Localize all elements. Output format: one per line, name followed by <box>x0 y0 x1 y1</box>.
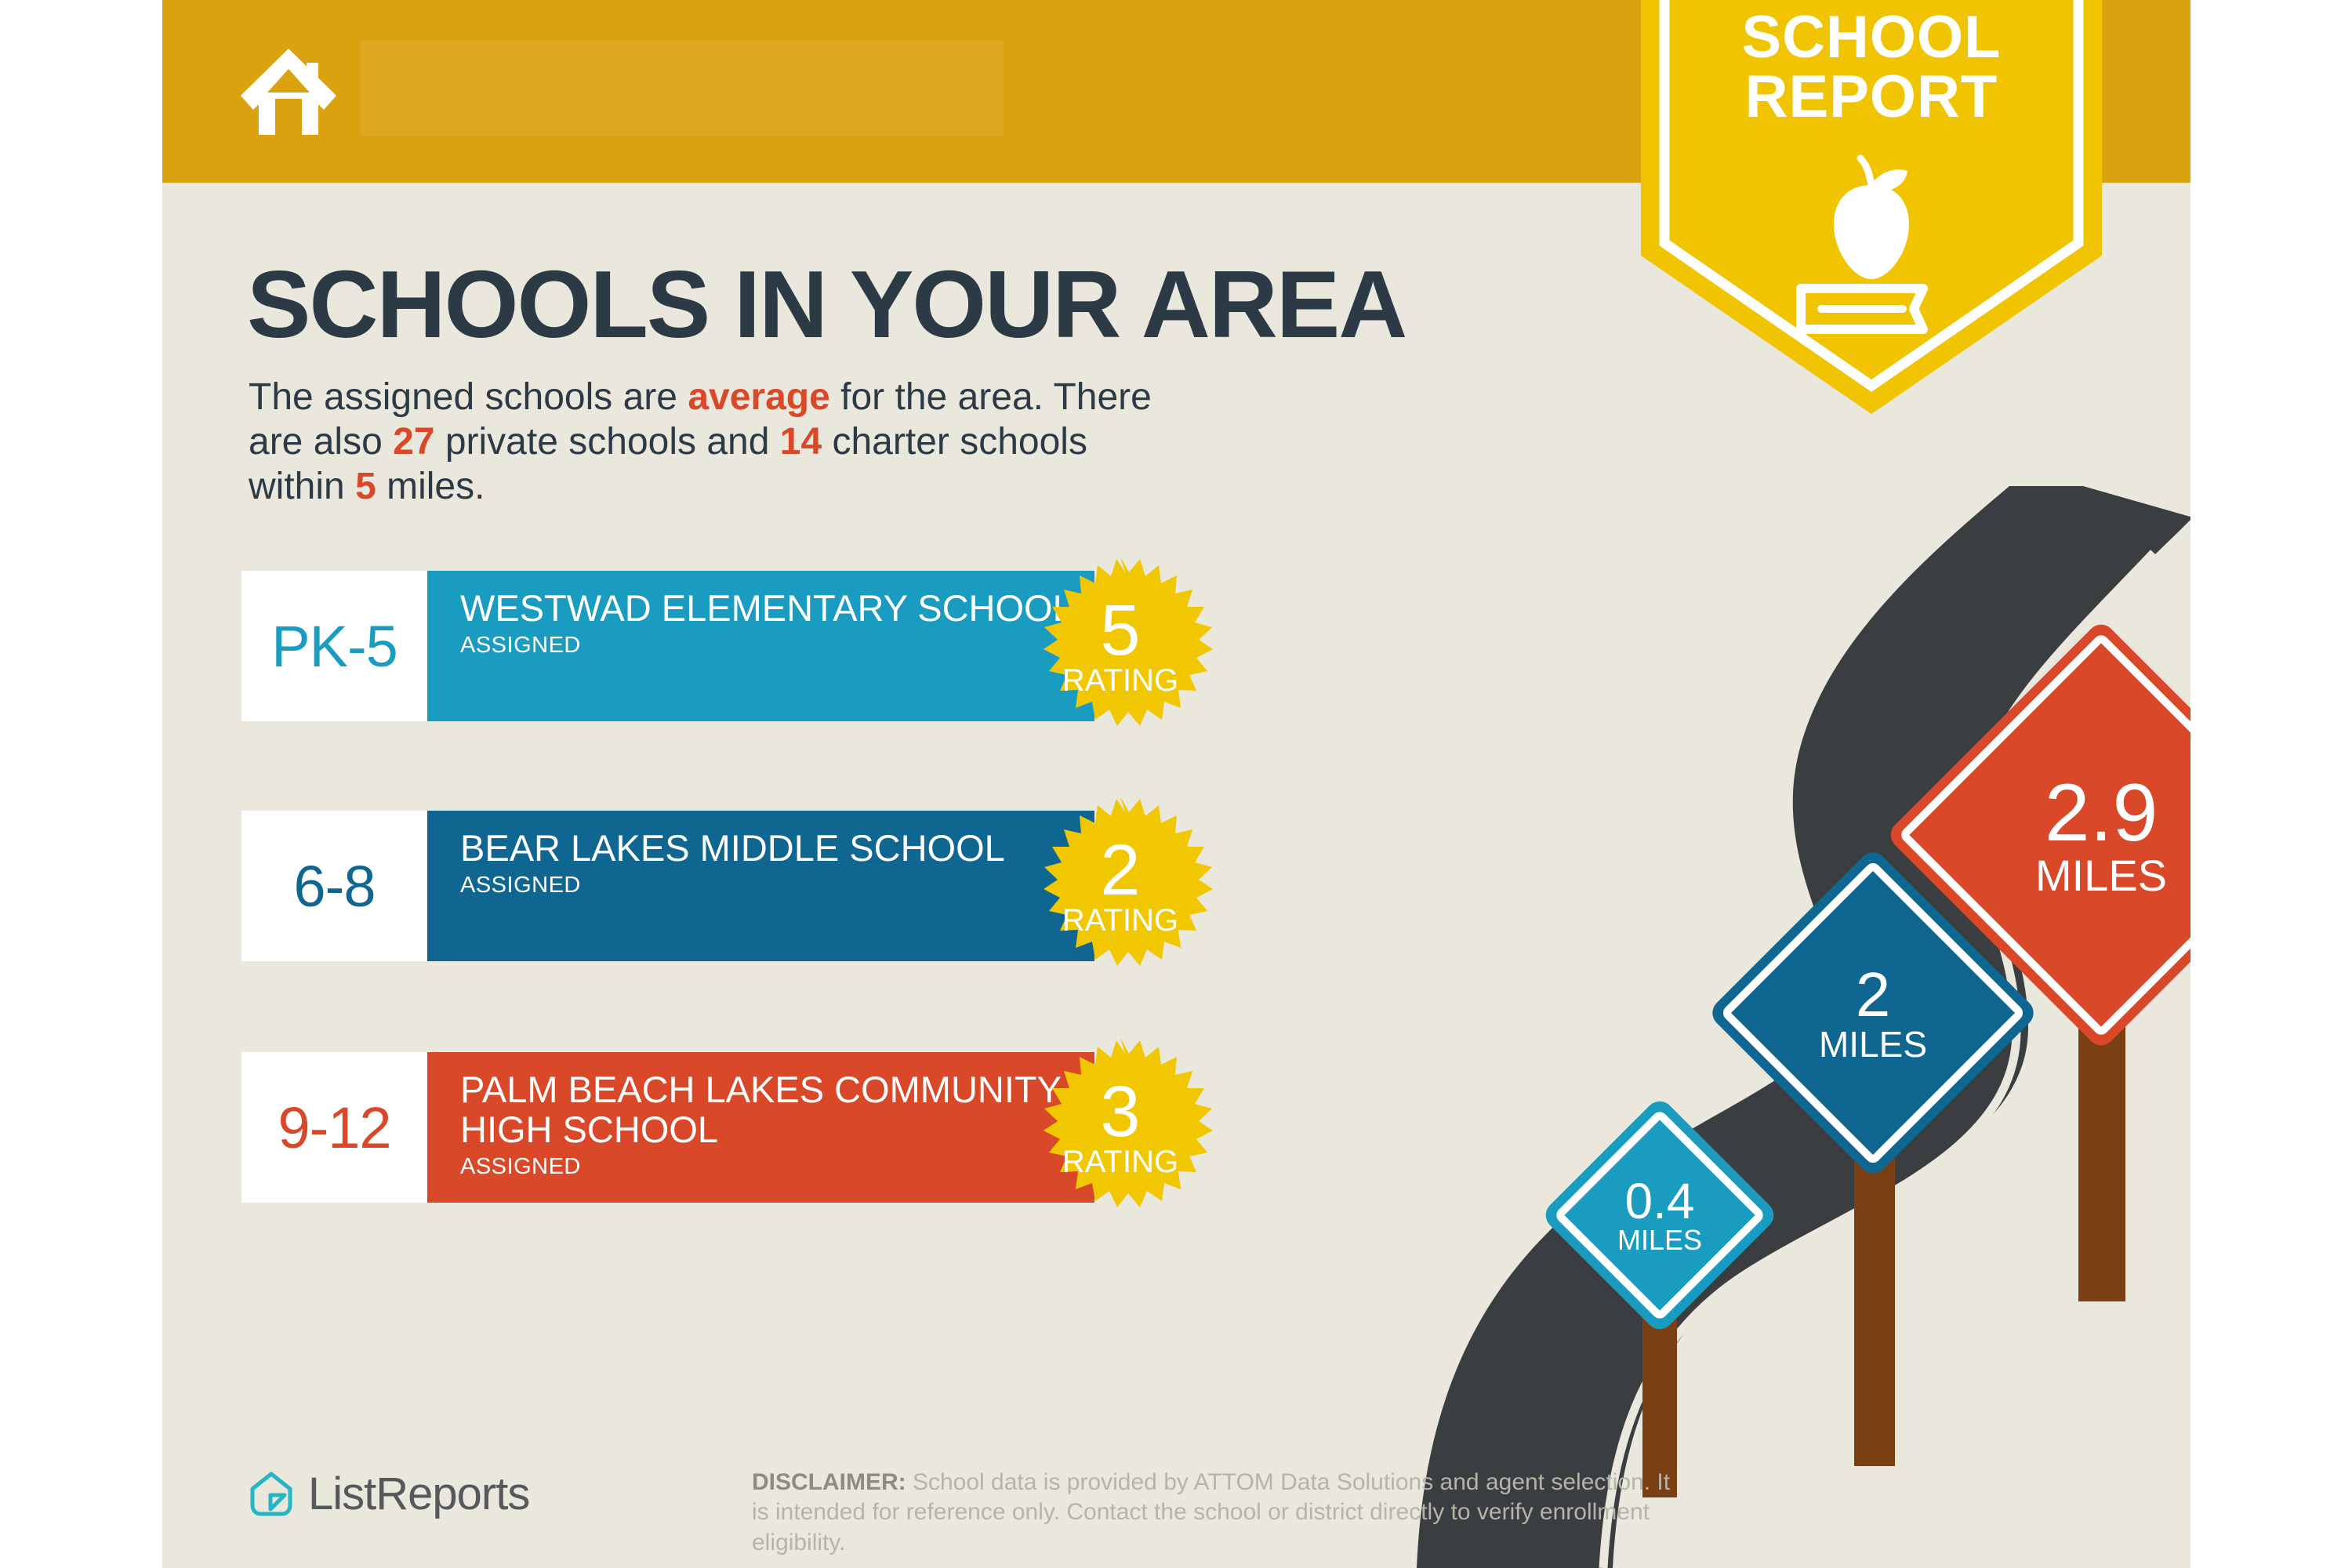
school-details: PALM BEACH LAKES COMMUNITY HIGH SCHOOL A… <box>427 1052 1094 1203</box>
subhead-highlight-radius: 5 <box>355 466 376 507</box>
grade-range-box: PK-5 <box>241 571 427 721</box>
grade-range-label: PK-5 <box>271 613 397 680</box>
home-icon[interactable] <box>238 38 339 140</box>
disclaimer-label: DISCLAIMER: <box>752 1469 906 1495</box>
rating-content: 2 RATING <box>1028 793 1213 978</box>
listreports-house-icon <box>247 1470 296 1519</box>
rating-content: 3 RATING <box>1028 1035 1213 1220</box>
page-title: SCHOOLS IN YOUR AREA <box>247 249 1406 359</box>
badge-label: SCHOOL REPORT <box>1627 8 2116 127</box>
subhead-part-1: The assigned schools are <box>249 376 688 418</box>
grade-range-box: 6-8 <box>241 811 427 961</box>
school-details: BEAR LAKES MIDDLE SCHOOL ASSIGNED <box>427 811 1094 961</box>
school-status: ASSIGNED <box>460 633 1094 659</box>
listreports-wordmark: ListReports <box>308 1468 529 1520</box>
school-status: ASSIGNED <box>460 1154 1094 1180</box>
grade-range-box: 9-12 <box>241 1052 427 1203</box>
rating-starburst: 2 RATING <box>1028 793 1213 978</box>
subhead-part-5: miles. <box>376 466 485 507</box>
subhead-highlight-average: average <box>688 376 829 418</box>
address-input[interactable] <box>361 41 1004 136</box>
school-details: WESTWAD ELEMENTARY SCHOOL ASSIGNED <box>427 571 1094 721</box>
sign-post <box>1854 1137 1895 1466</box>
grade-range-label: 9-12 <box>278 1094 390 1161</box>
school-status: ASSIGNED <box>460 873 1094 898</box>
school-report-badge: SCHOOL REPORT <box>1627 0 2116 428</box>
subhead-text: The assigned schools are average for the… <box>249 375 1189 509</box>
rating-content: 5 RATING <box>1028 554 1213 739</box>
school-name: PALM BEACH LAKES COMMUNITY HIGH SCHOOL <box>460 1070 1080 1150</box>
sign-text: 2.9 MILES <box>1948 682 2190 988</box>
sign-distance-value: 0.4 <box>1625 1176 1695 1226</box>
rating-word: RATING <box>1062 1146 1178 1178</box>
rating-value: 5 <box>1100 596 1140 665</box>
badge-line-1: SCHOOL <box>1741 4 2001 71</box>
rating-value: 3 <box>1100 1077 1140 1146</box>
badge-line-2: REPORT <box>1627 67 2116 127</box>
sign-distance-unit: MILES <box>1617 1226 1702 1254</box>
sign-distance-unit: MILES <box>2035 854 2167 898</box>
subhead-highlight-private-count: 27 <box>393 421 434 463</box>
distance-sign: 2.9 MILES <box>1901 643 2190 1309</box>
subhead-part-3: private schools and <box>435 421 780 463</box>
subhead-highlight-charter-count: 14 <box>780 421 822 463</box>
rating-value: 2 <box>1100 836 1140 905</box>
school-name: WESTWAD ELEMENTARY SCHOOL <box>460 589 1080 629</box>
rating-starburst: 3 RATING <box>1028 1035 1213 1220</box>
sign-distance-value: 2.9 <box>2045 772 2158 854</box>
sign-distance-value: 2 <box>1856 964 1891 1026</box>
disclaimer: DISCLAIMER: School data is provided by A… <box>752 1468 1677 1558</box>
school-row[interactable]: 9-12 PALM BEACH LAKES COMMUNITY HIGH SCH… <box>241 1052 1094 1203</box>
rating-word: RATING <box>1062 905 1178 936</box>
school-name: BEAR LAKES MIDDLE SCHOOL <box>460 829 1080 869</box>
school-row[interactable]: 6-8 BEAR LAKES MIDDLE SCHOOL ASSIGNED 2 … <box>241 811 1094 961</box>
listreports-logo[interactable]: ListReports <box>247 1468 529 1520</box>
school-row[interactable]: PK-5 WESTWAD ELEMENTARY SCHOOL ASSIGNED … <box>241 571 1094 721</box>
grade-range-label: 6-8 <box>294 853 376 920</box>
report-canvas: SCHOOL REPORT SCHOOLS IN YOUR AREA The a… <box>162 0 2190 1568</box>
rating-starburst: 5 RATING <box>1028 554 1213 739</box>
rating-word: RATING <box>1062 665 1178 696</box>
